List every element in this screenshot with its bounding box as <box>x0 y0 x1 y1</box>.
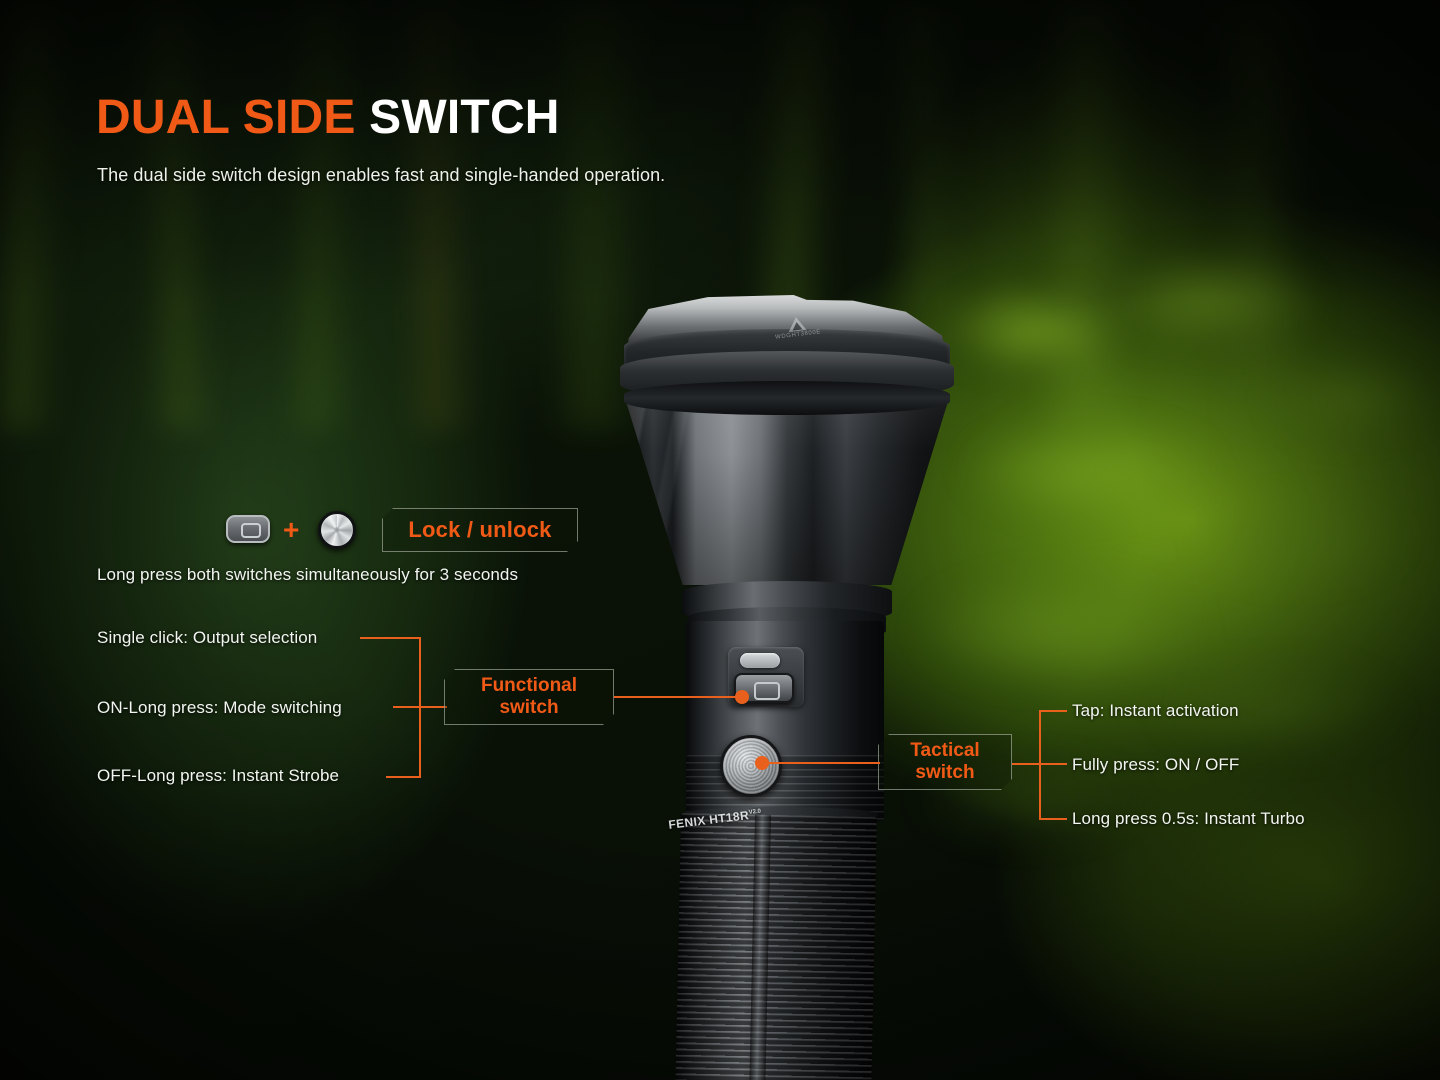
functional-switch-icon <box>226 515 270 543</box>
tactical-bracket-stub-top <box>1039 710 1067 712</box>
tactical-switch-icon <box>318 511 356 549</box>
model-version: V2.0 <box>748 809 761 816</box>
warning-triangle-icon: WDGHT3800E <box>766 313 830 354</box>
plus-icon: + <box>283 512 299 548</box>
tactical-switch-badge: Tactical switch <box>878 734 1012 790</box>
page-subtitle: The dual side switch design enables fast… <box>97 165 665 186</box>
page-title: DUAL SIDE SWITCH <box>96 94 560 142</box>
flashlight-product-image: WDGHT3800E FENIX HT18RV2.0 <box>600 285 980 1080</box>
tactical-pointer-dot <box>755 756 769 770</box>
page-canvas: DUAL SIDE SWITCH The dual side switch de… <box>0 0 1440 1080</box>
functional-switch-label: Functional switch <box>481 675 577 719</box>
flashlight-battery-indicator <box>740 653 780 668</box>
tactical-bracket-stub-bottom <box>1039 818 1067 820</box>
flashlight-reflector-shading <box>624 395 950 585</box>
functional-bracket-stub-mid <box>393 706 447 708</box>
tactical-switch-label-line2: switch <box>915 762 974 783</box>
functional-switch-item-1: ON-Long press: Mode switching <box>97 698 342 718</box>
lock-unlock-label: Lock / unlock <box>408 517 551 543</box>
flashlight-body-knurling <box>675 813 877 1080</box>
tactical-switch-label-line1: Tactical <box>910 740 979 761</box>
functional-switch-label-line1: Functional <box>481 675 577 696</box>
flashlight-tactical-switch[interactable] <box>720 735 782 797</box>
functional-switch-badge: Functional switch <box>444 669 614 725</box>
lock-unlock-description: Long press both switches simultaneously … <box>97 565 518 585</box>
lock-unlock-badge: Lock / unlock <box>382 508 578 552</box>
functional-pointer-line <box>614 696 742 698</box>
page-title-accent: DUAL SIDE <box>96 91 356 144</box>
functional-pointer-dot <box>735 690 749 704</box>
tactical-switch-item-1: Fully press: ON / OFF <box>1072 755 1239 775</box>
functional-switch-label-line2: switch <box>499 697 558 718</box>
tactical-bracket-stub-mid <box>1012 763 1067 765</box>
functional-bracket-stub-top <box>360 637 421 639</box>
page-title-main: SWITCH <box>369 91 560 144</box>
functional-switch-item-0: Single click: Output selection <box>97 628 317 648</box>
tactical-switch-item-0: Tap: Instant activation <box>1072 701 1239 721</box>
tactical-pointer-line <box>762 762 880 764</box>
tactical-switch-label: Tactical switch <box>910 740 979 784</box>
functional-bracket-stub-bottom <box>386 776 421 778</box>
functional-switch-item-2: OFF-Long press: Instant Strobe <box>97 766 339 786</box>
flashlight-head-ring-3 <box>624 381 950 415</box>
tactical-switch-item-2: Long press 0.5s: Instant Turbo <box>1072 809 1305 829</box>
